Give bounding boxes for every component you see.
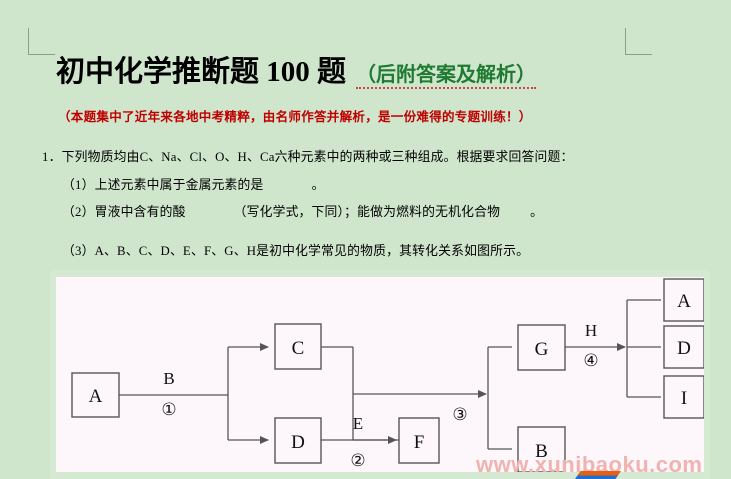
node-c: C: [275, 324, 321, 369]
page-title-main: 初中化学推断题 100 题: [56, 56, 346, 88]
question-item-2: （2）胃液中含有的酸（写化学式，下同）；能做为燃料的无机化合物。: [62, 201, 543, 220]
node-i: I: [664, 376, 704, 418]
question-item-2-label: （2）: [62, 205, 95, 219]
margin-corner-mark-top-left: [28, 28, 55, 55]
page-title-subtitle: （后附答案及解析）: [356, 64, 536, 89]
flowchart-svg: A C D F G: [56, 277, 704, 472]
node-label-g: G: [535, 339, 549, 360]
node-label-i: I: [681, 388, 687, 409]
question-item-2-period: 。: [530, 205, 543, 219]
node-label-d-right: D: [677, 338, 691, 359]
question-item-2-text-before: 胃液中含有的酸: [95, 205, 186, 219]
question-stem: 1．下列物质均由C、Na、Cl、O、H、Ca六种元素中的两种或三种组成。根据要求…: [42, 146, 574, 165]
document-page: 初中化学推断题 100 题（后附答案及解析） （本题集中了近年来各地中考精粹，由…: [0, 0, 731, 479]
question-item-3: （3）A、B、C、D、E、F、G、H是初中化学常见的物质，其转化关系如图所示。: [62, 240, 529, 259]
node-label-d: D: [291, 432, 305, 453]
question-item-1: （1）上述元素中属于金属元素的是。: [62, 174, 325, 193]
step-number-1: ①: [161, 400, 176, 419]
question-item-3-label: （3）: [62, 244, 95, 258]
svg-text:④: ④: [583, 351, 598, 370]
margin-corner-mark-top-right: [625, 28, 652, 55]
question-item-2-text-middle: （写化学式，下同）；能做为燃料的无机化合物: [234, 205, 501, 219]
question-item-3-text: A、B、C、D、E、F、G、H是初中化学常见的物质，其转化关系如图所示。: [95, 244, 529, 258]
flowchart-image: A C D F G: [56, 277, 704, 472]
question-item-1-text: 上述元素中属于金属元素的是: [95, 178, 264, 192]
node-a-left: A: [72, 373, 119, 417]
notice-text: （本题集中了近年来各地中考精粹，由名师作答并解析，是一份难得的专题训练！）: [58, 106, 532, 125]
step-number-4: ④: [583, 351, 598, 370]
step-number-2: ②: [350, 451, 365, 470]
node-label-a-right: A: [677, 291, 691, 312]
node-f: F: [399, 418, 439, 463]
svg-text:①: ①: [161, 400, 176, 419]
edge-label-h: H: [585, 321, 597, 340]
question-item-1-label: （1）: [62, 178, 95, 192]
node-label-f: F: [414, 432, 425, 453]
svg-text:②: ②: [350, 451, 365, 470]
page-title: 初中化学推断题 100 题（后附答案及解析）: [56, 48, 536, 90]
diagram-container: A C D F G: [50, 270, 710, 479]
node-label-c: C: [292, 338, 305, 359]
svg-text:③: ③: [452, 405, 467, 424]
edge-label-b: B: [163, 369, 174, 388]
step-number-3: ③: [452, 405, 467, 424]
node-label-a-left: A: [89, 386, 103, 407]
node-a-right: A: [664, 279, 704, 321]
node-g: G: [518, 325, 565, 370]
edge-label-e: E: [353, 414, 363, 433]
node-d-right: D: [664, 326, 704, 368]
question-item-1-period: 。: [312, 178, 325, 192]
node-d: D: [275, 418, 321, 463]
watermark-ribbon-icon: [575, 471, 621, 479]
